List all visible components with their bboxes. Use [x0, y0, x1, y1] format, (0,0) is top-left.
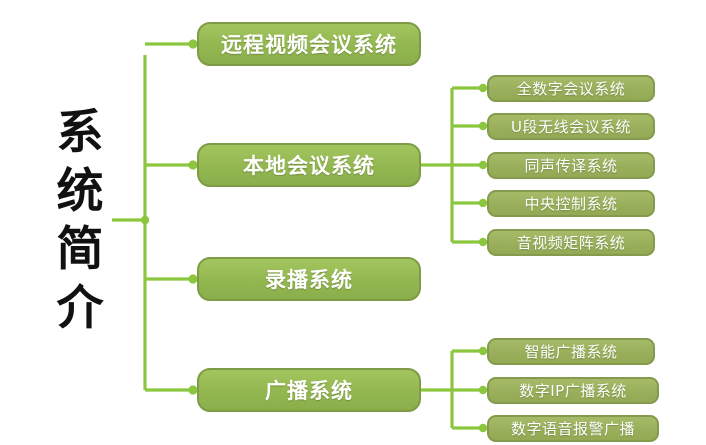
dot-local-child-3	[479, 161, 487, 169]
root-title: 系 统 简 介	[48, 108, 112, 334]
root-title-char-2: 统	[57, 167, 104, 217]
node-local-meeting[interactable]: 本地会议系统	[197, 143, 421, 187]
leaf-voice-alarm-pa[interactable]: 数字语音报警广播	[487, 415, 659, 442]
leaf-digital-ip-pa[interactable]: 数字IP广播系统	[487, 377, 659, 404]
system-overview-diagram: 系 统 简 介	[0, 0, 706, 445]
leaf-simultaneous-interpretation[interactable]: 同声传译系统	[487, 152, 655, 179]
dot-pa-child-2	[479, 386, 487, 394]
node-recording-broadcast[interactable]: 录播系统	[197, 257, 421, 301]
dot-local-child-2	[479, 122, 487, 130]
leaf-av-matrix[interactable]: 音视频矩阵系统	[487, 229, 655, 256]
dot-root	[141, 216, 149, 224]
root-title-char-1: 系	[57, 108, 104, 158]
dot-local-child-4	[479, 199, 487, 207]
node-remote-video[interactable]: 远程视频会议系统	[197, 22, 421, 66]
dot-pa-child-1	[479, 347, 487, 355]
leaf-full-digital[interactable]: 全数字会议系统	[487, 75, 655, 102]
root-title-char-3: 简	[57, 225, 104, 275]
root-title-char-4: 介	[57, 284, 104, 334]
dot-local-child-1	[479, 84, 487, 92]
leaf-central-control[interactable]: 中央控制系统	[487, 190, 655, 217]
leaf-u-band-wireless[interactable]: U段无线会议系统	[487, 113, 655, 140]
dot-pa-child-3	[479, 424, 487, 432]
leaf-smart-pa[interactable]: 智能广播系统	[487, 338, 655, 365]
node-public-address[interactable]: 广播系统	[197, 368, 421, 412]
dot-local-child-5	[479, 238, 487, 246]
